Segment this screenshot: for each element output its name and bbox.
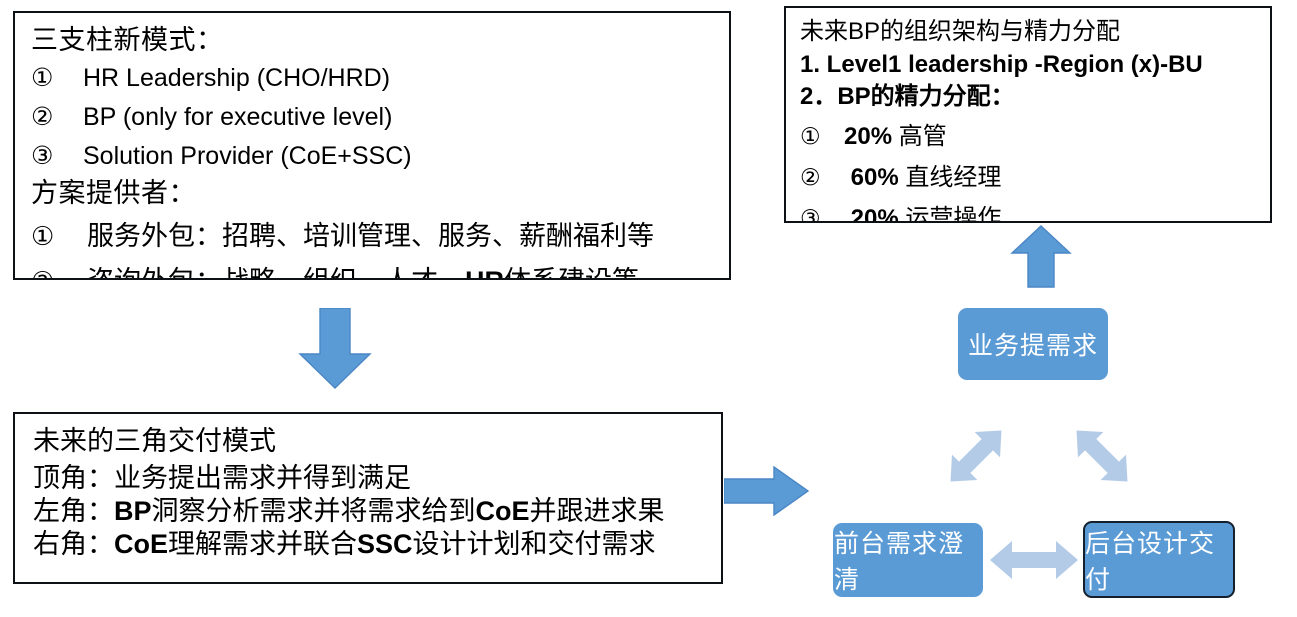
allocation-label: 20% 运营操作 bbox=[844, 198, 1001, 223]
allocation-text: 运营操作 bbox=[905, 205, 1001, 223]
provider-text-a: 咨询外包：战略、组织、人才、 bbox=[87, 266, 465, 280]
delivery-line: 左角：BP洞察分析需求并将需求给到CoE并跟进求果 bbox=[33, 498, 721, 525]
delivery-title: 未来的三角交付模式 bbox=[33, 428, 721, 455]
pillar-item: ③ Solution Provider (CoE+SSC) bbox=[31, 141, 729, 171]
node-label: 前台需求澄清 bbox=[834, 524, 982, 596]
node-label: 业务提需求 bbox=[968, 326, 1098, 362]
future-bp-line1: 1. Level1 leadership -Region (x)-BU bbox=[800, 53, 1270, 77]
pillar-label: BP (only for executive level) bbox=[83, 103, 392, 132]
provider-item: ② 咨询外包：战略、组织、人才、HR体系建设等 bbox=[31, 259, 729, 280]
provider-label: 咨询外包：战略、组织、人才、HR体系建设等 bbox=[87, 259, 639, 280]
allocation-item: ③ 20% 运营操作 bbox=[800, 198, 1270, 223]
connector-demand-back-icon bbox=[1060, 408, 1144, 504]
provider-text-bold: HR bbox=[465, 266, 504, 280]
node-label: 后台设计交付 bbox=[1085, 524, 1233, 596]
node-business-demand[interactable]: 业务提需求 bbox=[958, 308, 1108, 380]
allocation-percent: 20% bbox=[844, 123, 892, 150]
solution-provider-heading: 方案提供者： bbox=[31, 180, 729, 207]
delivery-line-label: 顶角： bbox=[33, 463, 114, 493]
allocation-item: ② 60% 直线经理 bbox=[800, 157, 1270, 192]
delivery-line-label: 右角： bbox=[33, 529, 114, 559]
delivery-line: 顶角：业务提出需求并得到满足 bbox=[33, 465, 721, 492]
pillar-item: ① HR Leadership (CHO/HRD) bbox=[31, 63, 729, 93]
delivery-line-text-b: 理解需求并联合 bbox=[168, 529, 357, 559]
connector-front-back-icon bbox=[988, 537, 1080, 583]
allocation-percent: 60% bbox=[851, 164, 899, 191]
allocation-text: 直线经理 bbox=[905, 164, 1001, 191]
delivery-line-text-a: 业务提出需求并得到满足 bbox=[114, 463, 411, 493]
provider-item: ① 服务外包：招聘、培训管理、服务、薪酬福利等 bbox=[31, 214, 729, 253]
allocation-item: ① 20% 高管 bbox=[800, 116, 1270, 151]
list-marker: ① bbox=[800, 123, 844, 150]
delivery-line-text-c: 并跟进求果 bbox=[530, 496, 665, 526]
list-marker: ② bbox=[31, 102, 83, 132]
delivery-line: 右角：CoE理解需求并联合SSC设计计划和交付需求 bbox=[33, 531, 721, 558]
provider-label: 服务外包：招聘、培训管理、服务、薪酬福利等 bbox=[87, 214, 654, 253]
allocation-text: 高管 bbox=[899, 123, 947, 150]
list-marker: ③ bbox=[800, 205, 844, 223]
arrow-up-icon bbox=[1010, 225, 1072, 289]
delivery-line-bold-a: CoE bbox=[114, 529, 168, 559]
pillar-label: HR Leadership (CHO/HRD) bbox=[83, 64, 390, 93]
arrow-down-icon bbox=[298, 308, 372, 390]
three-pillars-heading: 三支柱新模式： bbox=[31, 27, 729, 54]
list-marker: ② bbox=[800, 164, 844, 191]
allocation-label: 20% 高管 bbox=[844, 116, 947, 151]
pillar-item: ② BP (only for executive level) bbox=[31, 102, 729, 132]
provider-text-b: 体系建设等 bbox=[504, 266, 639, 280]
arrow-right-icon bbox=[724, 466, 810, 516]
delivery-line-label: 左角： bbox=[33, 496, 114, 526]
future-bp-box: 未来BP的组织架构与精力分配 1. Level1 leadership -Reg… bbox=[784, 6, 1272, 223]
list-marker: ② bbox=[31, 266, 87, 280]
delivery-line-bold-b: CoE bbox=[476, 496, 530, 526]
delivery-line-bold-a: BP bbox=[114, 496, 152, 526]
allocation-percent: 20% bbox=[851, 205, 899, 223]
future-bp-line2: 2．BP的精力分配： bbox=[800, 85, 1270, 109]
node-front-office-clarification[interactable]: 前台需求澄清 bbox=[833, 523, 983, 597]
future-bp-title: 未来BP的组织架构与精力分配 bbox=[800, 20, 1270, 44]
three-pillars-box: 三支柱新模式： ① HR Leadership (CHO/HRD) ② BP (… bbox=[13, 11, 731, 280]
delivery-line-bold-b: SSC bbox=[357, 529, 413, 559]
connector-demand-front-icon bbox=[934, 408, 1018, 504]
delivery-line-text-c: 设计计划和交付需求 bbox=[413, 529, 656, 559]
pillar-label: Solution Provider (CoE+SSC) bbox=[83, 142, 412, 171]
list-marker: ③ bbox=[31, 141, 83, 171]
list-marker: ① bbox=[31, 221, 87, 252]
delivery-line-text-b: 洞察分析需求并将需求给到 bbox=[152, 496, 476, 526]
node-back-office-delivery[interactable]: 后台设计交付 bbox=[1083, 521, 1235, 598]
allocation-label: 60% 直线经理 bbox=[844, 157, 1001, 192]
delivery-model-box: 未来的三角交付模式 顶角：业务提出需求并得到满足 左角：BP洞察分析需求并将需求… bbox=[13, 412, 723, 584]
list-marker: ① bbox=[31, 63, 83, 93]
